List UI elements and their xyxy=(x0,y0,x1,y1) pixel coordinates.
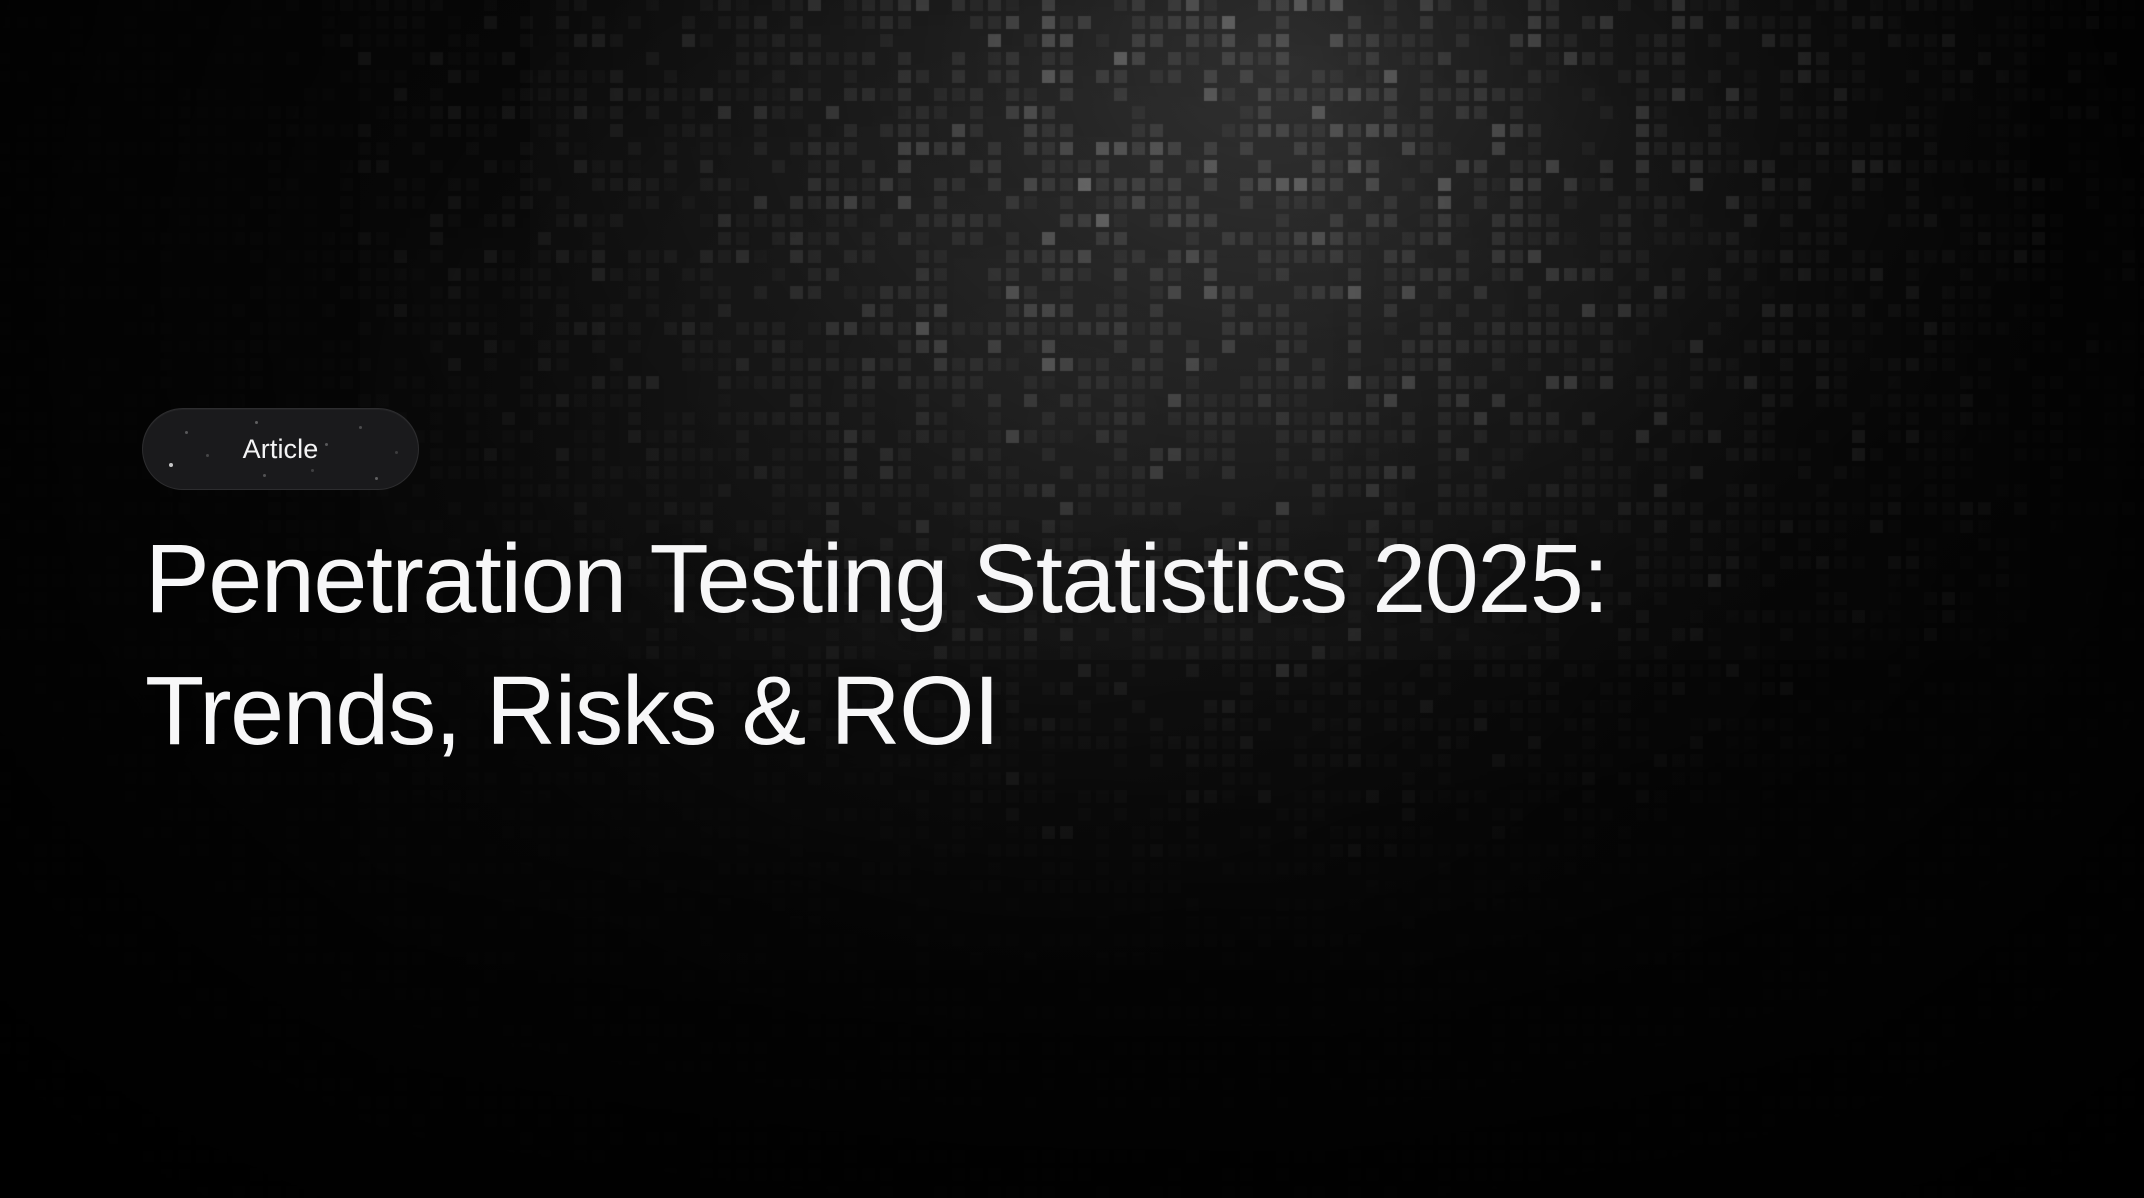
category-badge-article[interactable]: Article xyxy=(142,408,419,490)
badge-speck-icon xyxy=(185,431,188,434)
badge-speck-icon xyxy=(359,426,362,429)
badge-speck-icon xyxy=(206,454,209,457)
badge-speck-icon xyxy=(169,463,173,467)
article-hero-banner: Article Penetration Testing Statistics 2… xyxy=(0,0,2144,1198)
badge-speck-icon xyxy=(375,477,378,480)
hero-content: Article Penetration Testing Statistics 2… xyxy=(142,408,1902,777)
badge-speck-icon xyxy=(395,451,398,454)
badge-speck-icon xyxy=(325,443,328,446)
badge-speck-icon xyxy=(255,421,258,424)
page-title: Penetration Testing Statistics 2025: Tre… xyxy=(145,513,1845,777)
badge-speck-icon xyxy=(311,469,314,472)
category-badge-label: Article xyxy=(243,436,319,463)
badge-speck-icon xyxy=(263,474,266,477)
